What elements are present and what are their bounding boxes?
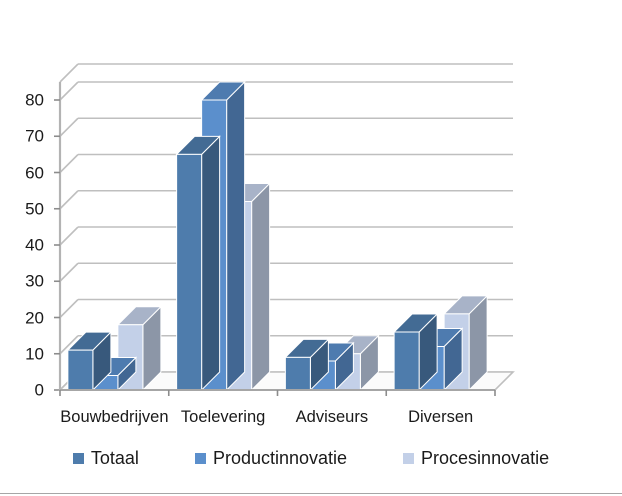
x-axis-label-adviseurs: Adviseurs (296, 408, 368, 427)
legend-item-productinnovatie[interactable]: Productinnovatie (195, 449, 347, 467)
chart-legend: TotaalProductinnovatieProcesinnovatie (0, 443, 622, 473)
x-axis (60, 390, 495, 396)
chart-canvas (0, 0, 622, 440)
x-axis-category-labels: BouwbedrijvenToeleveringAdviseursDiverse… (0, 404, 622, 434)
legend-item-totaal[interactable]: Totaal (73, 449, 139, 467)
x-axis-label-toelevering: Toelevering (181, 408, 265, 427)
y-axis-tick-label: 0 (10, 382, 44, 399)
legend-swatch-icon (73, 453, 84, 464)
y-axis-tick-label: 50 (10, 200, 44, 217)
bars (68, 82, 487, 390)
y-axis-tick-label: 20 (10, 309, 44, 326)
x-axis-label-diversen: Diversen (408, 408, 473, 427)
y-axis-tick-label: 80 (10, 92, 44, 109)
legend-label: Procesinnovatie (421, 449, 549, 467)
bar (394, 314, 437, 390)
y-axis-tick-label: 30 (10, 273, 44, 290)
legend-swatch-icon (195, 453, 206, 464)
bar-chart: 80706050403020100 BouwbedrijvenToeleveri… (0, 0, 622, 496)
legend-item-procesinnovatie[interactable]: Procesinnovatie (403, 449, 549, 467)
legend-swatch-icon (403, 453, 414, 464)
bar (177, 136, 220, 390)
axes (54, 82, 60, 390)
legend-label: Productinnovatie (213, 449, 347, 467)
y-axis-tick-label: 70 (10, 128, 44, 145)
y-axis-tick-labels: 80706050403020100 (6, 0, 44, 440)
y-axis-tick-label: 10 (10, 345, 44, 362)
legend-label: Totaal (91, 449, 139, 467)
bottom-divider (0, 493, 622, 494)
y-axis-tick-label: 60 (10, 164, 44, 181)
y-axis-tick-label: 40 (10, 237, 44, 254)
x-axis-label-bouwbedrijven: Bouwbedrijven (60, 408, 168, 427)
plot-area (0, 0, 622, 440)
